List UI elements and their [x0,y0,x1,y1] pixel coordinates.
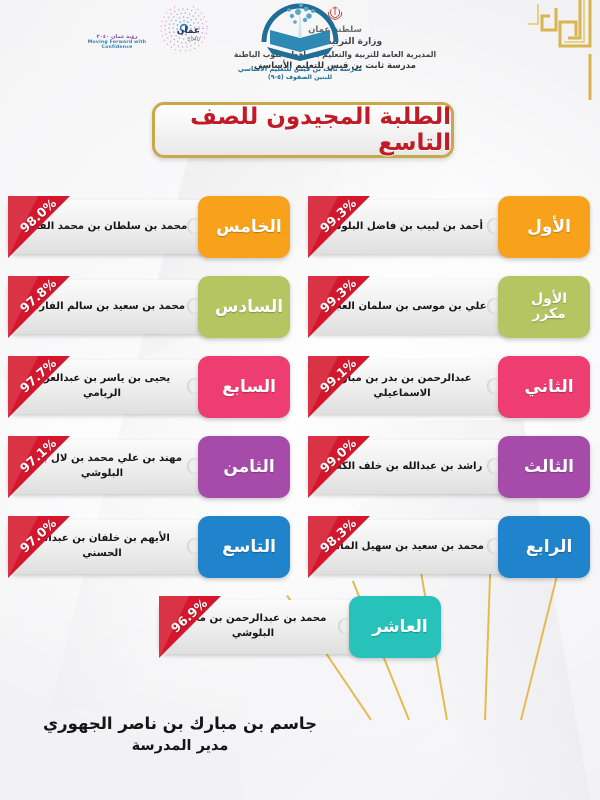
svg-text:عمان: عمان [177,26,200,36]
poster-footer: جاسم بن مبارك بن ناصر الجهوري مدير المدر… [0,712,360,759]
school-logo-name: مدرسة ثابت بن قيس للتعليم الأساسي [232,65,368,74]
student-name: محمد بن سعيد بن سالم الفارسي [19,300,185,315]
student-row-pair: عبدالرحمن بن بدر بن مبارك الاسماعيليالثا… [0,356,600,436]
rank-badge: الثالث [498,436,590,498]
student-rows-container: أحمد بن لبيب بن فاضل البلوشيالأول99.3%مح… [0,196,600,676]
student-row: محمد بن عبدالرحمن بن محمد البلوشيالعاشر9… [159,596,441,658]
student-name-plate: علي بن موسى بن سلمان العجمي [308,280,516,334]
school-logo: مدرسة ثابت بن قيس للتعليم الأساسي للبنين… [232,2,368,83]
rank-badge: السابع [198,356,290,418]
student-row-pair: محمد بن سعيد بن سهيل المالكيالرابع98.3%ا… [0,516,600,596]
vision-tagline: رؤية عمان ٢٠٤٠ Moving Forward with Confi… [74,34,160,50]
student-name: مهند بن علي محمد بن لال بخش البلوشي [14,452,190,482]
rank-label: السادس [205,298,283,317]
rank-badge: العاشر [349,596,441,658]
rank-badge: السادس [198,276,290,338]
principal-title: مدير المدرسة [0,736,360,758]
student-name-plate: محمد بن سعيد بن سهيل المالكي [308,520,516,574]
student-name: محمد بن سعيد بن سهيل المالكي [320,540,484,555]
rank-badge: الخامس [198,196,290,258]
rank-label: العاشر [362,618,427,637]
student-row: محمد بن سعيد بن سهيل المالكيالرابع98.3% [308,516,590,578]
student-name-plate: الأيهم بن خلفان بن عبدالله الحسني [8,520,216,574]
student-name: يحيى بن ياسر بن عبدالعزيز الريامي [14,372,190,402]
rank-badge: الأولمكرر [498,276,590,338]
poster-header: سلطنة عمان وزارة التربية والتعليم المدير… [0,0,600,92]
student-name-plate: محمد بن عبدالرحمن بن محمد البلوشي [159,600,367,654]
rank-label: الثاني [514,378,573,397]
svg-text:2040: 2040 [187,37,200,43]
student-name: علي بن موسى بن سلمان العجمي [317,300,486,315]
rank-badge: التاسع [198,516,290,578]
student-row: علي بن موسى بن سلمان العجميالأولمكرر99.3… [308,276,590,338]
rank-label: الرابع [516,538,573,557]
rank-label: الثالث [514,458,574,477]
rank-label: الأول [517,218,571,237]
school-logo-subtitle: للبنين الصفوف (٥-٩) [232,74,368,83]
rank-label: السابع [212,378,276,397]
open-book-school-logo-icon [254,2,346,64]
student-name-plate: راشد بن عبدالله بن خلف الكعبي [308,440,516,494]
rank-badge: الثامن [198,436,290,498]
oman-vision-2040-logo: عمان 2040 رؤية عمان ٢٠٤٠ Moving Forward … [72,6,222,64]
student-name-plate: عبدالرحمن بن بدر بن مبارك الاسماعيلي [308,360,516,414]
student-row-pair: علي بن موسى بن سلمان العجميالأولمكرر99.3… [0,276,600,356]
student-name: راشد بن عبدالله بن خلف الكعبي [322,460,483,475]
rank-badge: الثاني [498,356,590,418]
student-row: يحيى بن ياسر بن عبدالعزيز الرياميالسابع9… [8,356,290,418]
rank-label: التاسع [212,538,276,557]
student-row: أحمد بن لبيب بن فاضل البلوشيالأول99.3% [308,196,590,258]
student-name: الأيهم بن خلفان بن عبدالله الحسني [14,532,190,562]
student-row: محمد بن سعيد بن سالم الفارسيالسادس97.8% [8,276,290,338]
student-row: الأيهم بن خلفان بن عبدالله الحسنيالتاسع9… [8,516,290,578]
student-name: محمد بن عبدالرحمن بن محمد البلوشي [165,612,341,642]
student-name: أحمد بن لبيب بن فاضل البلوشي [321,220,483,235]
principal-name: جاسم بن مبارك بن ناصر الجهوري [0,712,360,737]
student-name-plate: يحيى بن ياسر بن عبدالعزيز الريامي [8,360,216,414]
student-row-center: محمد بن عبدالرحمن بن محمد البلوشيالعاشر9… [0,596,600,676]
rank-label: الثامن [213,458,274,477]
page-title: الطلبة المجيدون للصف التاسع [152,102,454,158]
student-name-plate: محمد بن سلطان بن محمد الفليتي [8,200,216,254]
vision-tagline-english: Moving Forward with Confidence [74,40,160,50]
student-row-pair: أحمد بن لبيب بن فاضل البلوشيالأول99.3%مح… [0,196,600,276]
student-row-pair: راشد بن عبدالله بن خلف الكعبيالثالث99.0%… [0,436,600,516]
student-name: عبدالرحمن بن بدر بن مبارك الاسماعيلي [314,372,490,402]
student-name-plate: مهند بن علي محمد بن لال بخش البلوشي [8,440,216,494]
rank-label: الأولمكرر [521,292,567,323]
rank-badge: الأول [498,196,590,258]
student-row: مهند بن علي محمد بن لال بخش البلوشيالثام… [8,436,290,498]
student-row: راشد بن عبدالله بن خلف الكعبيالثالث99.0% [308,436,590,498]
student-row: عبدالرحمن بن بدر بن مبارك الاسماعيليالثا… [308,356,590,418]
honor-roll-poster: سلطنة عمان وزارة التربية والتعليم المدير… [0,0,600,800]
student-name-plate: أحمد بن لبيب بن فاضل البلوشي [308,200,516,254]
student-row: محمد بن سلطان بن محمد الفليتيالخامس98.0% [8,196,290,258]
rank-label: الخامس [206,218,281,237]
student-name-plate: محمد بن سعيد بن سالم الفارسي [8,280,216,334]
rank-badge: الرابع [498,516,590,578]
student-name: محمد بن سلطان بن محمد الفليتي [17,220,188,235]
page-title-text: الطلبة المجيدون للصف التاسع [155,104,451,156]
